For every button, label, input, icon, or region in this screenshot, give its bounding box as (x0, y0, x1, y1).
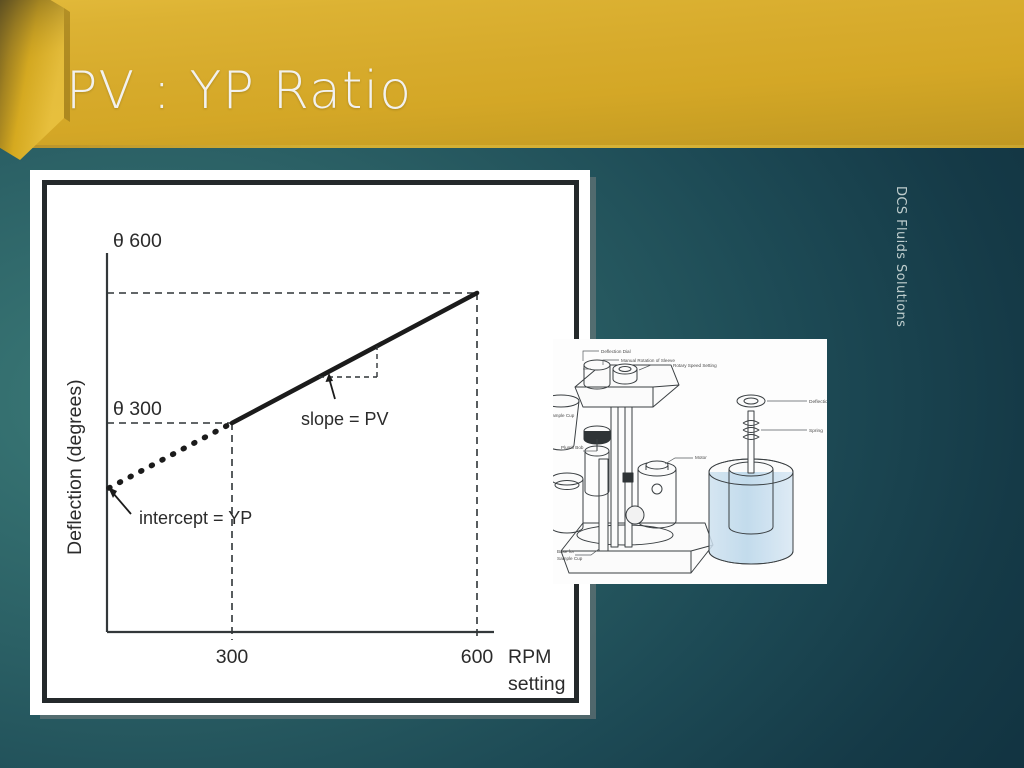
banner-underline (0, 145, 1024, 148)
label-spring: Spring (809, 428, 823, 434)
x-tick-label-300: 300 (216, 646, 249, 668)
viscometer-svg: Deflection Dial Manual Rotation of Sleev… (553, 339, 827, 584)
slope-annotation-label: slope = PV (301, 409, 389, 429)
page-title: PV : YP Ratio (66, 61, 412, 121)
viscometer-image: Deflection Dial Manual Rotation of Sleev… (553, 339, 827, 584)
label-deflection-dial-top: Deflection Dial (601, 349, 631, 354)
slide-root: PV : YP Ratio DCS Fluids Solutions (0, 0, 1024, 768)
x-axis-label-line2: setting (508, 673, 565, 695)
series-extrapolated (109, 423, 232, 488)
label-sample-cup: Sample Cup (553, 413, 575, 418)
chart-svg: θ 600 θ 300 300 600 RPM setting Deflecti… (47, 185, 574, 698)
series-measured (232, 293, 477, 423)
x-axis-label-line1: RPM (508, 646, 551, 668)
intercept-annotation-label: intercept = YP (139, 508, 252, 528)
label-plumb-bob: Plumb Bob (561, 445, 584, 450)
y-tick-label-600: θ 600 (113, 230, 162, 252)
label-motor: Motor (695, 455, 707, 460)
side-credit-text: DCS Fluids Solutions (893, 186, 908, 327)
chart-image: θ 600 θ 300 300 600 RPM setting Deflecti… (42, 180, 579, 703)
intercept-leader-line (113, 493, 131, 514)
y-tick-label-300: θ 300 (113, 398, 162, 420)
label-base-line1: Base for (557, 549, 575, 554)
label-rotary-speed: Rotary Speed Setting (673, 363, 717, 368)
label-deflection-dial-right: Deflection dial (809, 399, 827, 405)
label-base-line2: Sample Cup (557, 556, 583, 561)
y-axis-label: Deflection (degrees) (64, 379, 86, 555)
label-manual-rotation: Manual Rotation of Sleeve (621, 358, 675, 363)
x-tick-label-600: 600 (461, 646, 494, 668)
